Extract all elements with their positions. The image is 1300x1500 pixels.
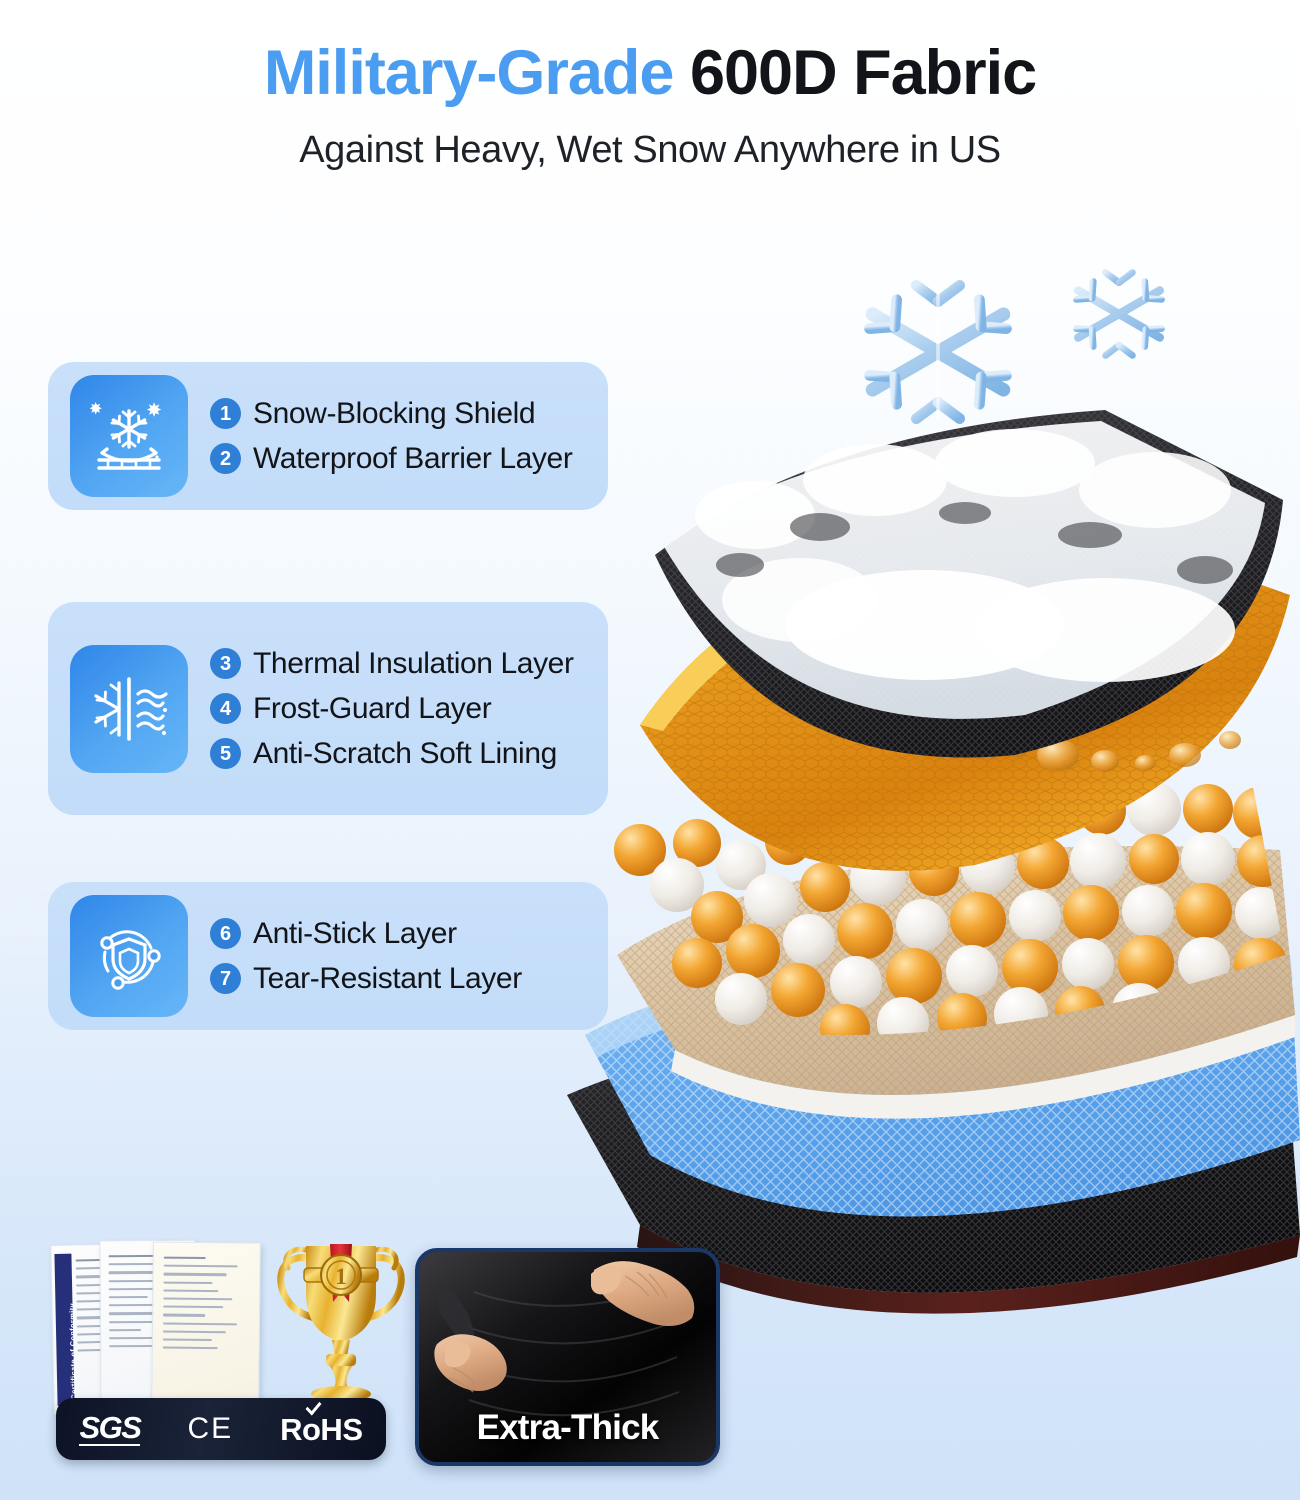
feature-lines: 3 Thermal Insulation Layer 4 Frost-Guard… <box>210 647 574 771</box>
shield-orbit-icon <box>70 895 188 1017</box>
list-item: 6 Anti-Stick Layer <box>210 917 522 951</box>
item-number-badge: 2 <box>210 443 241 474</box>
list-item: 7 Tear-Resistant Layer <box>210 962 522 996</box>
item-label: Snow-Blocking Shield <box>253 397 535 431</box>
feature-lines: 6 Anti-Stick Layer 7 Tear-Resistant Laye… <box>210 917 522 996</box>
rohs-badge: RoHS <box>280 1414 362 1445</box>
item-number-badge: 3 <box>210 648 241 679</box>
feature-card-durability: 6 Anti-Stick Layer 7 Tear-Resistant Laye… <box>48 882 608 1030</box>
sgs-badge: SGS <box>79 1412 140 1446</box>
extra-thick-panel: Extra-Thick <box>415 1248 720 1466</box>
item-label: Anti-Stick Layer <box>253 917 457 951</box>
item-label: Frost-Guard Layer <box>253 692 491 726</box>
page-subtitle: Against Heavy, Wet Snow Anywhere in US <box>0 129 1300 172</box>
snowflake-icon <box>1063 258 1175 375</box>
list-item: 1 Snow-Blocking Shield <box>210 397 572 431</box>
header: Military-Grade 600D Fabric Against Heavy… <box>0 0 1300 172</box>
title-rest: 600D Fabric <box>690 38 1036 108</box>
snowflake-over-fabric-icon <box>70 375 188 497</box>
list-item: 3 Thermal Insulation Layer <box>210 647 574 681</box>
trophy-rank-number: 1 <box>335 1264 347 1289</box>
item-number-badge: 1 <box>210 398 241 429</box>
page-title: Military-Grade 600D Fabric <box>0 40 1300 107</box>
certification-badge-bar: SGS CE RoHS <box>56 1398 386 1460</box>
certificate-sheet <box>151 1241 261 1412</box>
item-number-badge: 7 <box>210 963 241 994</box>
feature-card-snow-protection: 1 Snow-Blocking Shield 2 Waterproof Barr… <box>48 362 608 510</box>
list-item: 2 Waterproof Barrier Layer <box>210 442 572 476</box>
certificate-text-lines <box>163 1257 252 1356</box>
certificate-spine: Certificate of Conformity <box>54 1254 74 1406</box>
extra-thick-caption: Extra-Thick <box>419 1408 716 1448</box>
item-label: Thermal Insulation Layer <box>253 647 574 681</box>
feature-card-list: 1 Snow-Blocking Shield 2 Waterproof Barr… <box>48 362 608 1030</box>
rohs-label: RoHS <box>280 1412 362 1447</box>
item-label: Tear-Resistant Layer <box>253 962 522 996</box>
feature-card-thermal: 3 Thermal Insulation Layer 4 Frost-Guard… <box>48 602 608 815</box>
item-number-badge: 6 <box>210 918 241 949</box>
item-number-badge: 4 <box>210 693 241 724</box>
item-number-badge: 5 <box>210 738 241 769</box>
list-item: 4 Frost-Guard Layer <box>210 692 574 726</box>
list-item: 5 Anti-Scratch Soft Lining <box>210 737 574 771</box>
certification-panel: Certificate of Conformity <box>48 1238 396 1470</box>
feature-lines: 1 Snow-Blocking Shield 2 Waterproof Barr… <box>210 397 572 476</box>
frost-barrier-waves-icon <box>70 645 188 773</box>
item-label: Anti-Scratch Soft Lining <box>253 737 557 771</box>
title-accent: Military-Grade <box>264 38 674 108</box>
trophy-icon: 1 <box>266 1224 416 1407</box>
ce-badge: CE <box>187 1414 233 1444</box>
item-label: Waterproof Barrier Layer <box>253 442 572 476</box>
